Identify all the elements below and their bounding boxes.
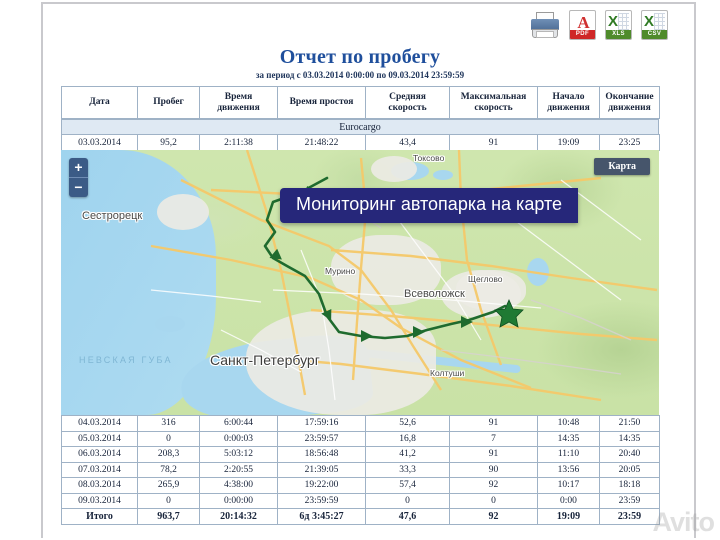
table-total-cell: 23:59	[600, 509, 660, 525]
table-cell: 52,6	[366, 416, 450, 432]
map-zoom-control[interactable]: + −	[69, 158, 88, 197]
csv-x-glyph: X	[644, 14, 654, 29]
table-header-cell: Дата	[62, 87, 138, 119]
table-cell: 19:22:00	[278, 478, 366, 494]
table-cell: 91	[450, 135, 538, 151]
table-total-cell: 19:09	[538, 509, 600, 525]
report-table-group: Eurocargo	[61, 119, 659, 135]
table-cell: 33,3	[366, 462, 450, 478]
map-place-label: Всеволожск	[404, 288, 465, 300]
pdf-glyph: A	[574, 13, 593, 31]
table-cell: 21:50	[600, 416, 660, 432]
map-place-label: Санкт-Петербург	[210, 352, 320, 368]
header-line-2: скорость	[368, 103, 447, 114]
table-cell: 16,8	[366, 431, 450, 447]
header-line-2: движения	[540, 103, 597, 114]
table-cell: 41,2	[366, 447, 450, 463]
table-total-cell: 6д 3:45:27	[278, 509, 366, 525]
table-cell: 18:18	[600, 478, 660, 494]
table-cell: 05.03.2014	[62, 431, 138, 447]
table-header-cell: Средняяскорость	[366, 87, 450, 119]
table-cell: 20:40	[600, 447, 660, 463]
header-line-2: движения	[202, 103, 275, 114]
table-row[interactable]: 06.03.2014208,35:03:1218:56:4841,29111:1…	[62, 447, 660, 463]
map-place-label: Колтуши	[430, 368, 464, 378]
table-cell: 208,3	[138, 447, 200, 463]
table-cell: 0	[450, 493, 538, 509]
table-cell: 0	[138, 431, 200, 447]
table-cell: 5:03:12	[200, 447, 278, 463]
map-place-label: Мурино	[325, 266, 355, 276]
map-place-label: НЕВСКАЯ ГУБА	[79, 355, 173, 365]
report-table-top-rows: 03.03.201495,22:11:3821:48:2243,49119:09…	[61, 134, 660, 151]
table-cell: 14:35	[538, 431, 600, 447]
table-total-cell: 47,6	[366, 509, 450, 525]
table-cell: 7	[450, 431, 538, 447]
pdf-label: PDF	[570, 30, 595, 39]
table-cell: 95,2	[138, 135, 200, 151]
table-cell: 23:59	[600, 493, 660, 509]
report-period-subtitle: за период с 03.03.2014 0:00:00 по 09.03.…	[0, 70, 720, 80]
table-cell: 0:00	[538, 493, 600, 509]
table-cell: 10:48	[538, 416, 600, 432]
table-row[interactable]: 09.03.201400:00:0023:59:59000:0023:59	[62, 493, 660, 509]
table-cell: 08.03.2014	[62, 478, 138, 494]
table-header-cell: Окончаниедвижения	[600, 87, 660, 119]
page-title: Отчет по пробегу	[0, 46, 720, 69]
zoom-out-button[interactable]: −	[69, 178, 88, 197]
header-line-1: Начало	[540, 92, 597, 103]
promo-banner: Мониторинг автопарка на карте	[280, 188, 578, 223]
table-cell: 92	[450, 478, 538, 494]
table-cell: 03.03.2014	[62, 135, 138, 151]
table-row[interactable]: 07.03.201478,22:20:5521:39:0533,39013:56…	[62, 462, 660, 478]
table-cell: 90	[450, 462, 538, 478]
table-row[interactable]: 03.03.201495,22:11:3821:48:2243,49119:09…	[62, 135, 660, 151]
printer-paper-part	[536, 31, 554, 38]
header-line-2: скорость	[452, 103, 535, 114]
table-cell: 57,4	[366, 478, 450, 494]
report-table-header: ДатаПробегВремядвиженияВремя простояСред…	[61, 86, 660, 119]
header-line-1: Время простоя	[280, 97, 363, 108]
table-total-cell: 963,7	[138, 509, 200, 525]
table-cell: 13:56	[538, 462, 600, 478]
map-place-label: Сестрорецк	[82, 210, 142, 222]
table-cell: 04.03.2014	[62, 416, 138, 432]
table-cell: 18:56:48	[278, 447, 366, 463]
header-line-1: Средняя	[368, 92, 447, 103]
table-header-cell: Время простоя	[278, 87, 366, 119]
vehicle-group-label: Eurocargo	[62, 120, 659, 135]
table-cell: 21:39:05	[278, 462, 366, 478]
csv-icon[interactable]: X CSV	[641, 10, 668, 40]
header-line-1: Окончание	[602, 92, 657, 103]
table-cell: 91	[450, 416, 538, 432]
zoom-in-button[interactable]: +	[69, 158, 88, 177]
xls-label: XLS	[606, 30, 631, 39]
table-total-cell: 92	[450, 509, 538, 525]
map-place-label: Щеглово	[468, 274, 503, 284]
table-cell: 0:00:00	[200, 493, 278, 509]
csv-label: CSV	[642, 30, 667, 39]
route-end-marker	[495, 300, 523, 327]
csv-grid-glyph	[654, 13, 665, 30]
pdf-icon[interactable]: A PDF	[569, 10, 596, 40]
table-total-row: Итого963,720:14:326д 3:45:2747,69219:092…	[62, 509, 660, 525]
map-place-label: Токсово	[413, 153, 444, 163]
header-line-1: Максимальная	[452, 92, 535, 103]
table-cell: 0	[366, 493, 450, 509]
table-row[interactable]: 05.03.201400:00:0323:59:5716,8714:3514:3…	[62, 431, 660, 447]
xls-icon[interactable]: X XLS	[605, 10, 632, 40]
table-header-row: ДатаПробегВремядвиженияВремя простояСред…	[62, 87, 660, 119]
table-cell: 14:35	[600, 431, 660, 447]
table-cell: 316	[138, 416, 200, 432]
screenshot-root: A PDF X XLS X CSV Отчет по пробегу за пе…	[0, 0, 720, 540]
print-icon[interactable]	[530, 10, 560, 40]
map-type-button[interactable]: Карта	[594, 158, 650, 175]
table-header-cell: Максимальнаяскорость	[450, 87, 538, 119]
table-cell: 21:48:22	[278, 135, 366, 151]
table-header-cell: Началодвижения	[538, 87, 600, 119]
table-cell: 2:20:55	[200, 462, 278, 478]
table-cell: 23:59:59	[278, 493, 366, 509]
table-group-row: Eurocargo	[62, 120, 659, 135]
export-toolbar: A PDF X XLS X CSV	[530, 10, 668, 40]
table-cell: 06.03.2014	[62, 447, 138, 463]
table-cell: 265,9	[138, 478, 200, 494]
table-cell: 09.03.2014	[62, 493, 138, 509]
table-cell: 11:10	[538, 447, 600, 463]
header-line-1: Дата	[64, 97, 135, 108]
report-table-bottom-rows: 04.03.20143166:00:4417:59:1652,69110:482…	[61, 415, 660, 525]
table-cell: 78,2	[138, 462, 200, 478]
table-cell: 23:59:57	[278, 431, 366, 447]
table-cell: 43,4	[366, 135, 450, 151]
table-header-cell: Пробег	[138, 87, 200, 119]
table-cell: 17:59:16	[278, 416, 366, 432]
table-cell: 0	[138, 493, 200, 509]
header-line-1: Пробег	[140, 97, 197, 108]
table-cell: 6:00:44	[200, 416, 278, 432]
table-row[interactable]: 08.03.2014265,94:38:0019:22:0057,49210:1…	[62, 478, 660, 494]
table-cell: 07.03.2014	[62, 462, 138, 478]
table-cell: 19:09	[538, 135, 600, 151]
table-cell: 10:17	[538, 478, 600, 494]
table-cell: 4:38:00	[200, 478, 278, 494]
table-cell: 2:11:38	[200, 135, 278, 151]
table-cell: 20:05	[600, 462, 660, 478]
table-cell: 91	[450, 447, 538, 463]
table-total-cell: 20:14:32	[200, 509, 278, 525]
table-header-cell: Времядвижения	[200, 87, 278, 119]
xls-x-glyph: X	[608, 14, 618, 29]
table-total-cell: Итого	[62, 509, 138, 525]
table-row[interactable]: 04.03.20143166:00:4417:59:1652,69110:482…	[62, 416, 660, 432]
header-line-1: Время	[202, 92, 275, 103]
table-cell: 0:00:03	[200, 431, 278, 447]
header-line-2: движения	[602, 103, 657, 114]
table-cell: 23:25	[600, 135, 660, 151]
xls-grid-glyph	[618, 13, 629, 30]
